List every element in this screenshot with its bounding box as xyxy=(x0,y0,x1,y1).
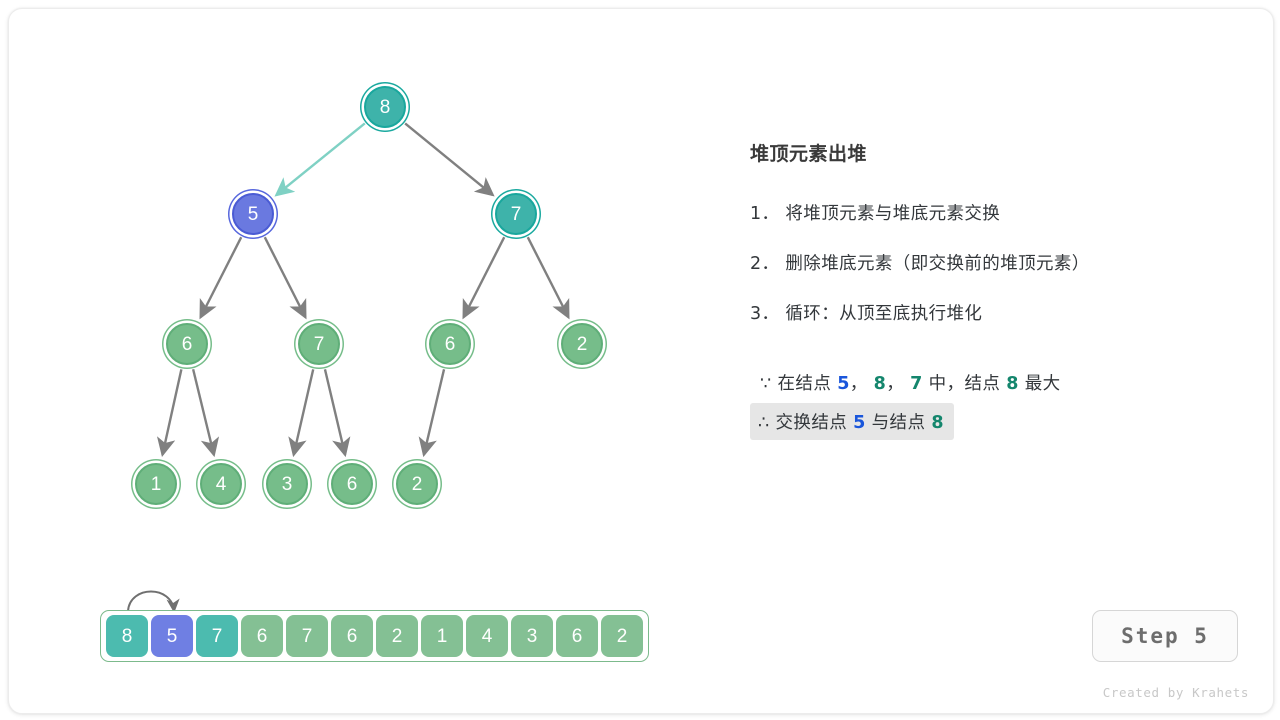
result-value-2: 8 xyxy=(931,413,944,433)
result-text-2: 与结点 xyxy=(872,413,926,433)
panel-title: 堆顶元素出堆 xyxy=(750,139,1220,166)
array-visualization: 857676214362 xyxy=(100,610,649,662)
therefore-because-symbol: ∵ xyxy=(760,374,772,394)
tree-node-n11: 2 xyxy=(396,463,438,505)
explanation-panel: 堆顶元素出堆 1． 将堆顶元素与堆底元素交换 2． 删除堆底元素（即交换前的堆顶… xyxy=(750,139,1220,440)
array-cell-6: 2 xyxy=(376,615,418,657)
tree-node-n1: 5 xyxy=(232,193,274,235)
tree-edge xyxy=(325,369,345,454)
tree-edge xyxy=(424,369,444,454)
tree-node-n4: 7 xyxy=(298,323,340,365)
tree-edge xyxy=(528,237,569,317)
result-value-1: 5 xyxy=(853,413,866,433)
array-cell-8: 4 xyxy=(466,615,508,657)
premise-text-1: 在结点 xyxy=(778,374,832,394)
tree-node-n2: 7 xyxy=(495,193,537,235)
array-cell-10: 6 xyxy=(556,615,598,657)
tree-edge xyxy=(276,123,364,195)
therefore-symbol: ∴ xyxy=(758,413,770,433)
tree-edge xyxy=(193,369,214,455)
premise-text-2: 中，结点 xyxy=(929,374,1001,394)
tree-edge xyxy=(265,237,306,317)
premise-comma-1: ， xyxy=(850,374,868,394)
binary-tree-diagram: 857676214362 xyxy=(9,9,709,549)
tree-edge xyxy=(294,369,314,454)
tree-node-n8: 4 xyxy=(200,463,242,505)
array-cell-5: 6 xyxy=(331,615,373,657)
tree-edge xyxy=(405,123,493,195)
array-cell-11: 2 xyxy=(601,615,643,657)
tree-edge xyxy=(201,237,242,317)
tree-node-n10: 6 xyxy=(331,463,373,505)
step-badge: Step 5 xyxy=(1092,610,1238,662)
array-cell-3: 6 xyxy=(241,615,283,657)
step-item-2: 2． 删除堆底元素（即交换前的堆顶元素） xyxy=(750,250,1220,275)
conclusion-premise-row: ∵ 在结点 5， 8， 7 中，结点 8 最大 xyxy=(752,364,1220,401)
tree-node-n7: 1 xyxy=(135,463,177,505)
conclusion-result-row: ∴ 交换结点 5 与结点 8 xyxy=(750,403,1220,440)
credit-text: Created by Krahets xyxy=(1084,685,1249,700)
tree-node-n5: 6 xyxy=(429,323,471,365)
array-cell-1: 5 xyxy=(151,615,193,657)
tree-edge xyxy=(162,369,181,454)
slide-card: 857676214362 857676214362 堆顶元素出堆 1． 将堆顶元… xyxy=(8,8,1274,714)
premise-value-1: 5 xyxy=(837,374,850,394)
tree-node-n3: 6 xyxy=(166,323,208,365)
step-item-3: 3． 循环：从顶至底执行堆化 xyxy=(750,300,1220,325)
array-container: 857676214362 xyxy=(100,610,649,662)
tree-edge xyxy=(464,237,505,317)
premise-comma-2: ， xyxy=(886,374,904,394)
premise-text-3: 最大 xyxy=(1025,374,1061,394)
tree-node-n9: 3 xyxy=(266,463,308,505)
array-cell-0: 8 xyxy=(106,615,148,657)
step-item-1: 1． 将堆顶元素与堆底元素交换 xyxy=(750,200,1220,225)
premise-value-3: 7 xyxy=(910,374,923,394)
result-text-1: 交换结点 xyxy=(776,413,848,433)
array-cell-4: 7 xyxy=(286,615,328,657)
array-cell-2: 7 xyxy=(196,615,238,657)
premise-value-2: 8 xyxy=(874,374,887,394)
tree-node-n6: 2 xyxy=(561,323,603,365)
premise-value-4: 8 xyxy=(1006,374,1019,394)
tree-node-n0: 8 xyxy=(364,86,406,128)
array-cell-7: 1 xyxy=(421,615,463,657)
array-cell-9: 3 xyxy=(511,615,553,657)
